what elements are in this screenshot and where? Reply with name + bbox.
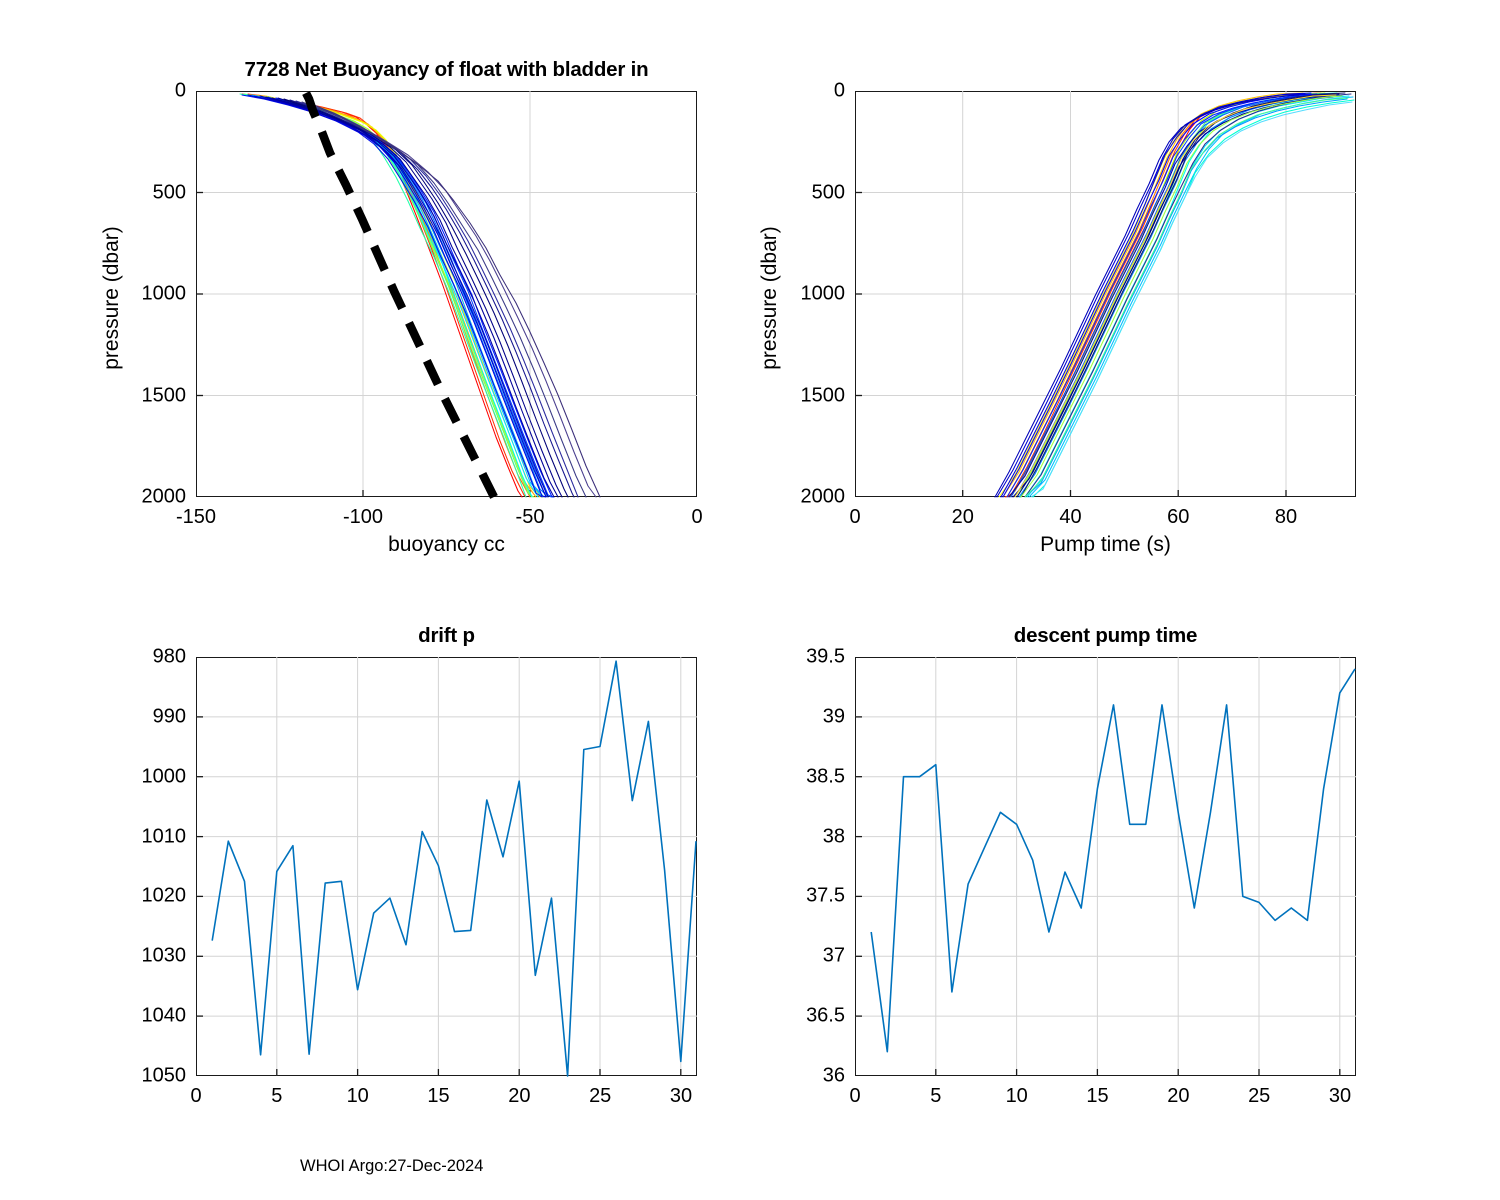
buoyancy-axes xyxy=(196,91,697,497)
pumptime-y-axis-label: pressure (dbar) xyxy=(758,178,782,418)
driftp-ytick-990: 990 xyxy=(110,705,186,728)
driftp-xtick-15: 15 xyxy=(427,1085,449,1108)
pumptime-axes xyxy=(855,91,1356,497)
driftp-ytick-1050: 1050 xyxy=(110,1065,186,1088)
driftp-xtick-10: 10 xyxy=(347,1085,369,1108)
pumptime-xtick-80: 80 xyxy=(1275,506,1297,529)
descent-ytick-37: 37 xyxy=(769,945,845,968)
driftp-axes xyxy=(196,657,697,1076)
driftp-ytick-1020: 1020 xyxy=(110,885,186,908)
descent-ytick-39: 39 xyxy=(769,705,845,728)
descent-plot-canvas xyxy=(855,657,1356,1076)
descent-ytick-38.5: 38.5 xyxy=(769,765,845,788)
pumptime-xtick-0: 0 xyxy=(849,506,860,529)
buoyancy-y-axis-label: pressure (dbar) xyxy=(100,178,124,418)
pumptime-xtick-60: 60 xyxy=(1167,506,1189,529)
driftp-xtick-0: 0 xyxy=(190,1085,201,1108)
buoyancy-gridlines xyxy=(196,91,697,497)
pumptime-ytick-500: 500 xyxy=(787,181,845,204)
pumptime-ytick-1500: 1500 xyxy=(787,384,845,407)
descent-xtick-15: 15 xyxy=(1086,1085,1108,1108)
descent-ytick-36.5: 36.5 xyxy=(769,1005,845,1028)
buoyancy-ytick-1500: 1500 xyxy=(128,384,186,407)
driftp-ytick-1040: 1040 xyxy=(110,1005,186,1028)
buoyancy-profile-curves xyxy=(240,94,600,497)
descent-data-series xyxy=(871,669,1355,1052)
buoyancy-ytick-0: 0 xyxy=(128,80,186,103)
descent-gridlines xyxy=(855,657,1356,1076)
pumptime-ytick-0: 0 xyxy=(787,80,845,103)
driftp-ytick-1010: 1010 xyxy=(110,825,186,848)
buoyancy-plot-canvas xyxy=(196,91,697,497)
driftp-xtick-30: 30 xyxy=(670,1085,692,1108)
buoyancy-xtick-0: 0 xyxy=(691,506,702,529)
matlab-figure: 7728 Net Buoyancy of float with bladder … xyxy=(0,0,1500,1200)
descent-ytick-39.5: 39.5 xyxy=(769,646,845,669)
pumptime-profile-curves xyxy=(995,93,1354,497)
buoyancy-x-axis-label: buoyancy cc xyxy=(196,533,697,557)
driftp-xtick-5: 5 xyxy=(271,1085,282,1108)
descent-axes xyxy=(855,657,1356,1076)
buoyancy-ytick-1000: 1000 xyxy=(128,283,186,306)
driftp-plot-canvas xyxy=(196,657,697,1076)
buoyancy-ytick-500: 500 xyxy=(128,181,186,204)
buoyancy-plot-title: 7728 Net Buoyancy of float with bladder … xyxy=(196,58,697,82)
descent-ytick-36: 36 xyxy=(769,1065,845,1088)
pumptime-xtick-20: 20 xyxy=(952,506,974,529)
buoyancy-xtick--50: -50 xyxy=(516,506,545,529)
descent-xtick-5: 5 xyxy=(930,1085,941,1108)
driftp-data-series xyxy=(212,661,696,1076)
descent-xtick-0: 0 xyxy=(849,1085,860,1108)
driftp-ytick-1000: 1000 xyxy=(110,765,186,788)
pumptime-xtick-40: 40 xyxy=(1059,506,1081,529)
pumptime-ytick-2000: 2000 xyxy=(787,486,845,509)
driftp-ytick-1030: 1030 xyxy=(110,945,186,968)
driftp-xtick-20: 20 xyxy=(508,1085,530,1108)
descent-ytick-37.5: 37.5 xyxy=(769,885,845,908)
descent-xtick-10: 10 xyxy=(1006,1085,1028,1108)
descent-xtick-30: 30 xyxy=(1329,1085,1351,1108)
descent-xtick-25: 25 xyxy=(1248,1085,1270,1108)
buoyancy-xtick--150: -150 xyxy=(176,506,216,529)
pumptime-x-axis-label: Pump time (s) xyxy=(855,533,1356,557)
driftp-xtick-25: 25 xyxy=(589,1085,611,1108)
pumptime-plot-canvas xyxy=(855,91,1356,497)
driftp-ytick-980: 980 xyxy=(110,646,186,669)
pumptime-ytick-1000: 1000 xyxy=(787,283,845,306)
figure-footer-text: WHOI Argo:27-Dec-2024 xyxy=(300,1157,483,1176)
driftp-plot-title: drift p xyxy=(196,624,697,648)
descent-plot-title: descent pump time xyxy=(855,624,1356,648)
descent-xtick-20: 20 xyxy=(1167,1085,1189,1108)
descent-ytick-38: 38 xyxy=(769,825,845,848)
driftp-gridlines xyxy=(196,657,697,1076)
buoyancy-xtick--100: -100 xyxy=(343,506,383,529)
